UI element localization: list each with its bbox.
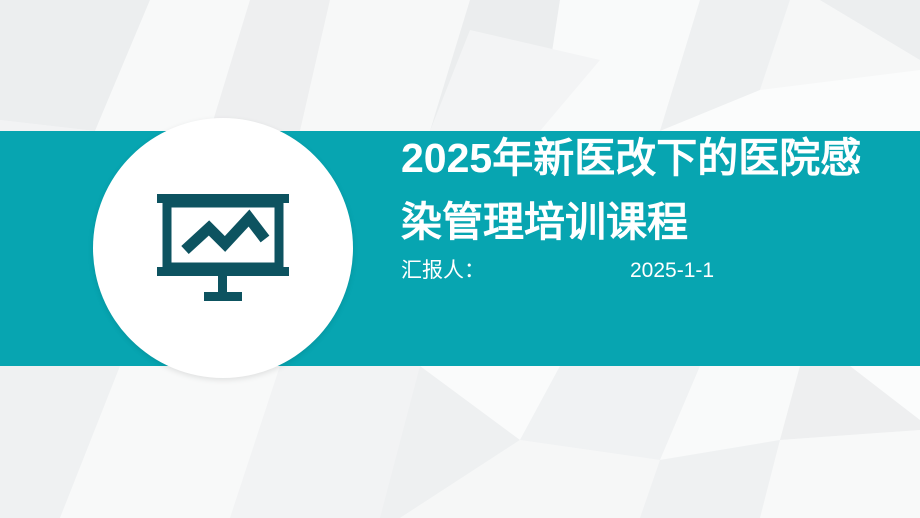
page-title: 2025年新医改下的医院感染管理培训课程 — [401, 126, 901, 254]
presentation-board-icon — [153, 192, 293, 304]
presenter-label: 汇报人： — [401, 256, 485, 286]
meta-row: 汇报人： 2025-1-1 — [401, 256, 901, 286]
presentation-date: 2025-1-1 — [630, 256, 714, 286]
badge-circle — [93, 118, 353, 378]
title-slide: 2025年新医改下的医院感染管理培训课程 汇报人： 2025-1-1 — [0, 0, 920, 518]
title-text-block: 2025年新医改下的医院感染管理培训课程 汇报人： 2025-1-1 — [401, 126, 901, 286]
